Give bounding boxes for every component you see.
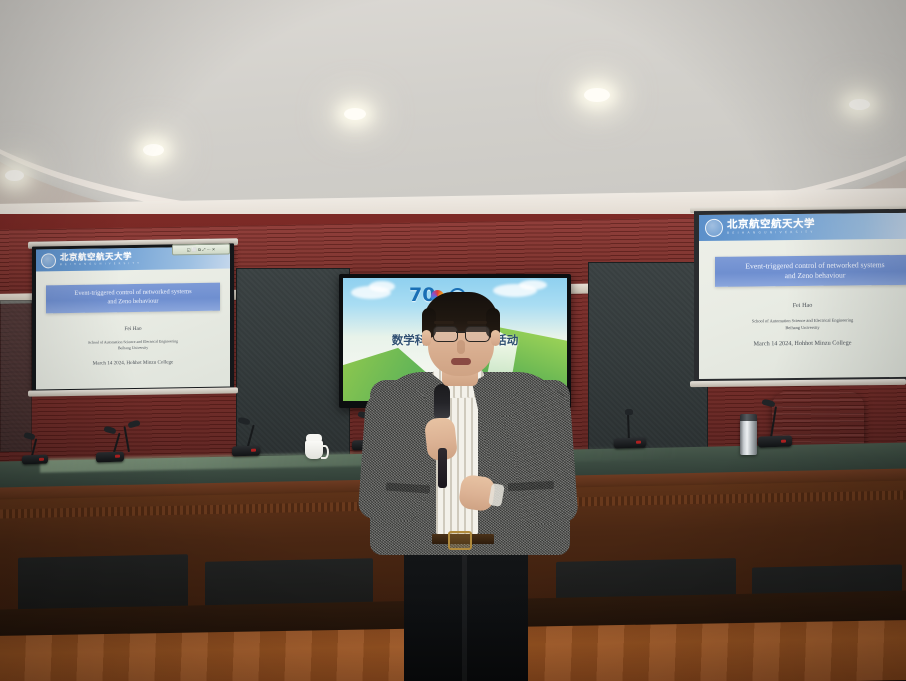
right-slide-header: 北京航空航天大学 B E I H A N G U N I V E R S I T… <box>699 213 906 241</box>
left-slide: 北京航空航天大学 B E I H A N G U N I V E R S I T… <box>36 246 230 389</box>
left-slide-date-venue: March 14 2024, Hohhot Minzu College <box>36 358 230 367</box>
left-slide-affiliation-2: Beihang University <box>36 344 230 351</box>
right-slide-author: Fei Hao <box>699 301 906 310</box>
thermos-bottle[interactable] <box>740 418 757 455</box>
microphone-head <box>625 409 633 415</box>
blazer-sleeve-left <box>357 386 426 522</box>
right-slide-affiliation-2: Beihang University <box>699 324 906 331</box>
presentation-toolbar-label: ◱ ⬜ ⧉ ⤢ ⋯ ✕ <box>187 247 216 252</box>
presentation-toolbar[interactable]: ◱ ⬜ ⧉ ⤢ ⋯ ✕ <box>172 243 230 255</box>
handheld-microphone-body[interactable] <box>438 448 447 488</box>
right-slide-title-bar: Event-triggered control of networked sys… <box>715 255 906 287</box>
downlight-1-icon <box>5 170 24 181</box>
ear-right <box>491 330 500 346</box>
mug-handle <box>321 445 329 459</box>
glasses-bridge <box>456 331 465 333</box>
university-seal-icon <box>41 253 56 268</box>
belt-buckle <box>448 531 472 550</box>
blazer-sleeve-right <box>511 386 578 526</box>
downlight-5-icon <box>849 99 870 110</box>
thermos-cap <box>740 414 757 421</box>
university-seal-icon <box>705 219 723 237</box>
right-slide-university-en: B E I H A N G U N I V E R S I T Y <box>727 230 815 236</box>
downlight-3-icon <box>344 108 366 120</box>
left-slide-university-en: B E I H A N G U N I V E R S I T Y <box>60 261 140 266</box>
desk-recess-1 <box>18 554 188 614</box>
microphone-base[interactable] <box>22 455 48 465</box>
trouser-crease <box>462 538 467 681</box>
glasses-lens-left <box>433 326 458 342</box>
left-slide-author: Fei Hao <box>36 324 230 333</box>
left-screen-frame: 北京航空航天大学 B E I H A N G U N I V E R S I T… <box>32 243 234 392</box>
right-slide-affiliation-1: School of Automation Science and Electri… <box>699 317 906 324</box>
right-slide-title-line1: Event-triggered control of networked sys… <box>745 260 884 272</box>
nose <box>457 340 465 354</box>
acoustic-panel-far-left <box>0 300 32 452</box>
microphone-base[interactable] <box>758 435 792 447</box>
speaker-person <box>348 288 598 681</box>
acoustic-panel-right <box>588 262 708 454</box>
handheld-microphone-head <box>434 384 450 418</box>
left-slide-title-bar: Event-triggered control of networked sys… <box>46 283 220 314</box>
glasses-lens-right <box>465 326 490 342</box>
right-slide: 北京航空航天大学 B E I H A N G U N I V E R S I T… <box>699 213 906 379</box>
mouth <box>451 358 471 365</box>
downlight-4-icon <box>584 88 610 102</box>
lecture-hall-photo: 北京航空航天大学 B E I H A N G U N I V E R S I T… <box>0 0 906 681</box>
ear-left <box>422 330 431 346</box>
mug-lid <box>306 434 322 441</box>
right-slide-university-cn: 北京航空航天大学 <box>727 219 815 231</box>
left-slide-title-line2: and Zeno behaviour <box>107 298 158 307</box>
downlight-2-icon <box>143 144 164 156</box>
eyebrow-left <box>434 321 454 324</box>
microphone-base[interactable] <box>232 446 260 457</box>
right-slide-date-venue: March 14 2024, Hohhot Minzu College <box>699 339 906 348</box>
eyebrow-right <box>467 321 487 324</box>
microphone-base[interactable] <box>96 452 124 463</box>
right-slide-title-line2: and Zeno behaviour <box>785 271 846 282</box>
right-screen-frame: 北京航空航天大学 B E I H A N G U N I V E R S I T… <box>694 209 906 383</box>
microphone-base[interactable] <box>614 437 646 448</box>
